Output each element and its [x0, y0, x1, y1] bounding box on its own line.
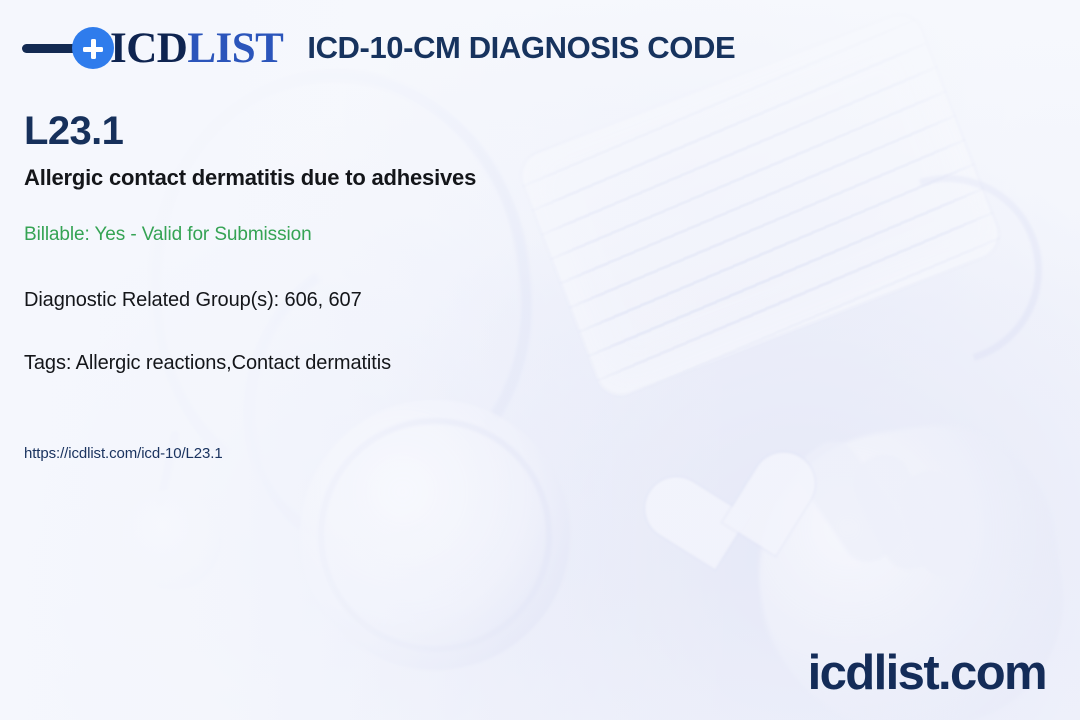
- finger-icon: [895, 464, 980, 583]
- logo-word-icd: ICD: [110, 25, 187, 72]
- tags-list: Tags: Allergic reactions,Contact dermati…: [24, 352, 724, 375]
- logo-wordmark: ICDLIST: [110, 27, 283, 70]
- diagnosis-code: L23.1: [24, 108, 724, 154]
- horizontal-dash-icon: [22, 44, 78, 53]
- page-title: ICD-10-CM DIAGNOSIS CODE: [307, 30, 735, 66]
- icdlist-logo[interactable]: ICDLIST: [22, 20, 283, 76]
- finger-icon: [845, 445, 950, 578]
- source-url[interactable]: https://icdlist.com/icd-10/L23.1: [24, 445, 724, 462]
- surgical-mask-earloop-icon: [819, 142, 1076, 399]
- paper-heart-icon: [665, 451, 799, 585]
- icd-code-card: ICDLIST ICD-10-CM DIAGNOSIS CODE L23.1 A…: [0, 0, 1080, 720]
- diagnosis-description: Allergic contact dermatitis due to adhes…: [24, 165, 724, 191]
- footer-brand: icdlist.com: [808, 649, 1046, 698]
- page-header: ICDLIST ICD-10-CM DIAGNOSIS CODE: [0, 0, 1080, 96]
- logo-word-list: LIST: [187, 25, 283, 72]
- stethoscope-earpiece-icon: [122, 490, 222, 590]
- diagnostic-related-groups: Diagnostic Related Group(s): 606, 607: [24, 289, 724, 312]
- billable-status-badge: Billable: Yes - Valid for Submission: [24, 224, 724, 246]
- code-details: L23.1 Allergic contact dermatitis due to…: [24, 108, 724, 462]
- finger-icon: [790, 432, 913, 573]
- plus-circle-icon: [72, 27, 114, 69]
